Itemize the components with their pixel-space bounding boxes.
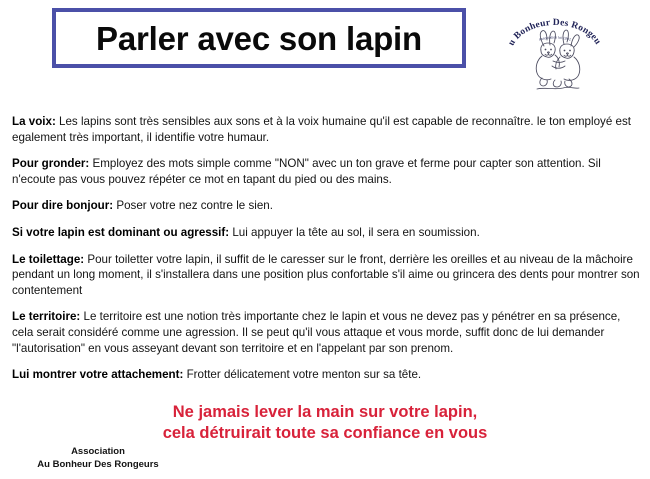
title-banner: Parler avec son lapin [52, 8, 466, 68]
paragraph-la-voix: La voix: Les lapins sont très sensibles … [12, 114, 640, 145]
page-header: Parler avec son lapin Au Bonheur Des Ron… [0, 0, 650, 100]
paragraph-lapin-dominant: Si votre lapin est dominant ou agressif:… [12, 225, 640, 241]
paragraph-lead: Lui montrer votre attachement: [12, 368, 183, 381]
paragraph-text: Pour toiletter votre lapin, il suffit de… [12, 253, 640, 297]
paragraph-lead: Si votre lapin est dominant ou agressif: [12, 226, 229, 239]
paragraph-text: Poser votre nez contre le sien. [113, 199, 273, 212]
article-body: La voix: Les lapins sont très sensibles … [12, 114, 640, 394]
warning-line-1: Ne jamais lever la main sur votre lapin, [0, 402, 650, 423]
paragraph-text: Les lapins sont très sensibles aux sons … [12, 115, 631, 144]
paragraph-lead: Le territoire: [12, 310, 80, 323]
paragraph-le-territoire: Le territoire: Le territoire est une not… [12, 309, 640, 356]
paragraph-lead: Pour gronder: [12, 157, 89, 170]
page-title: Parler avec son lapin [96, 22, 422, 55]
paragraph-text: Frotter délicatement votre menton sur sa… [183, 368, 421, 381]
paragraph-text: Lui appuyer la tête au sol, il sera en s… [229, 226, 480, 239]
footer-line-1: Association [8, 446, 188, 459]
paragraph-text: Employez des mots simple comme "NON" ave… [12, 157, 601, 186]
paragraph-attachement: Lui montrer votre attachement: Frotter d… [12, 367, 640, 383]
paragraph-lead: Le toilettage: [12, 253, 84, 266]
footer-line-2: Au Bonheur Des Rongeurs [8, 459, 188, 472]
paragraph-le-toilettage: Le toilettage: Pour toiletter votre lapi… [12, 252, 640, 299]
warning-line-2: cela détruirait toute sa confiance en vo… [0, 423, 650, 444]
association-logo: Au Bonheur Des Rongeurs association loi … [503, 6, 607, 94]
footer-association: Association Au Bonheur Des Rongeurs [8, 446, 188, 471]
paragraph-lead: La voix: [12, 115, 56, 128]
logo-arc-text: Au Bonheur Des Rongeurs [503, 6, 603, 48]
warning-message: Ne jamais lever la main sur votre lapin,… [0, 402, 650, 444]
svg-text:Au Bonheur Des Rongeurs: Au Bonheur Des Rongeurs [503, 6, 603, 48]
paragraph-pour-gronder: Pour gronder: Employez des mots simple c… [12, 156, 640, 187]
paragraph-pour-dire-bonjour: Pour dire bonjour: Poser votre nez contr… [12, 198, 640, 214]
paragraph-lead: Pour dire bonjour: [12, 199, 113, 212]
paragraph-text: Le territoire est une notion très import… [12, 310, 620, 354]
